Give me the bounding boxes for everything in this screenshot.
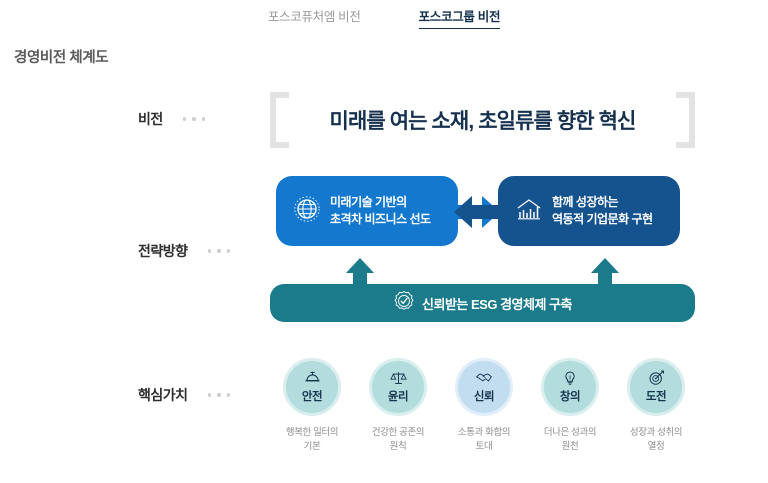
handshake-icon: [475, 370, 493, 391]
strategy-line-1: 함께 성장하는: [552, 195, 618, 209]
core-value-circle: 신뢰: [455, 358, 513, 416]
bracket-right-icon: [676, 92, 695, 148]
core-value-label: 신뢰: [474, 392, 494, 404]
core-value-challenge[interactable]: 도전 성장과 성취의 열정: [616, 358, 696, 468]
dots-decoration: [183, 117, 206, 121]
dots-decoration: [208, 249, 231, 253]
vision-statement-block: 미래를 여는 소재, 초일류를 향한 혁신: [270, 96, 695, 144]
scales-icon: [390, 370, 407, 391]
strategy-box-culture-label: 함께 성장하는 역동적 기업문화 구현: [552, 194, 653, 229]
target-dart-icon: [648, 370, 665, 391]
caption-line-1: 성장과 성취의: [630, 427, 682, 438]
caption-line-1: 소통과 화합의: [458, 427, 510, 438]
vision-tabbar: 포스코퓨처엠 비전 포스코그룹 비전: [0, 0, 768, 34]
core-value-safety[interactable]: 안전 행복한 일터의 기본: [272, 358, 352, 468]
row-label-core-values: 핵심가치: [138, 385, 230, 405]
core-value-label: 윤리: [388, 392, 408, 404]
core-value-circle: 안전: [283, 358, 341, 416]
globe-icon: [293, 195, 321, 228]
vision-statement-text: 미래를 여는 소재, 초일류를 향한 혁신: [289, 105, 676, 135]
strategy-direction-area: 미래기술 기반의 초격차 비즈니스 선도 함께 성장하는 역동적 기업문화 구현: [270, 176, 695, 322]
row-label-core-values-text: 핵심가치: [138, 385, 188, 405]
core-value-trust[interactable]: 신뢰 소통과 화합의 토대: [444, 358, 524, 468]
core-values-area: 안전 행복한 일터의 기본 윤리 건강한 공존의 원칙: [272, 358, 696, 468]
core-value-caption: 건강한 공존의 원칙: [372, 426, 424, 454]
core-value-ethics[interactable]: 윤리 건강한 공존의 원칙: [358, 358, 438, 468]
caption-line-2: 원칙: [390, 441, 407, 452]
caption-line-2: 토대: [476, 441, 493, 452]
caption-line-2: 열정: [648, 441, 665, 452]
strategy-line-2: 초격차 비즈니스 선도: [330, 212, 431, 226]
core-value-label: 도전: [646, 392, 666, 404]
core-value-creativity[interactable]: 창의 더나은 성과의 원천: [530, 358, 610, 468]
growth-building-icon: [515, 195, 543, 228]
page-title: 경영비전 체계도: [14, 46, 108, 67]
lightbulb-icon: [562, 370, 578, 391]
strategy-box-technology-label: 미래기술 기반의 초격차 비즈니스 선도: [330, 194, 431, 229]
core-value-circle: 창의: [541, 358, 599, 416]
core-value-circle: 윤리: [369, 358, 427, 416]
row-label-strategy: 전략방향: [138, 241, 230, 261]
core-value-circle: 도전: [627, 358, 685, 416]
caption-line-1: 행복한 일터의: [286, 427, 338, 438]
safety-helmet-icon: [304, 370, 321, 391]
bracket-left-icon: [270, 92, 289, 148]
caption-line-2: 원천: [562, 441, 579, 452]
core-value-caption: 소통과 화합의 토대: [458, 426, 510, 454]
dots-decoration: [208, 393, 231, 397]
core-value-label: 창의: [560, 392, 580, 404]
core-value-label: 안전: [302, 392, 322, 404]
row-label-vision-text: 비전: [138, 109, 163, 129]
caption-line-2: 기본: [304, 441, 321, 452]
tab-posco-group-vision[interactable]: 포스코그룹 비전: [419, 6, 501, 29]
esg-foundation-label: 신뢰받는 ESG 경영체제 구축: [422, 294, 572, 313]
strategy-box-technology[interactable]: 미래기술 기반의 초격차 비즈니스 선도: [276, 176, 458, 246]
strategy-box-culture[interactable]: 함께 성장하는 역동적 기업문화 구현: [498, 176, 680, 246]
strategy-line-1: 미래기술 기반의: [330, 195, 407, 209]
row-label-strategy-text: 전략방향: [138, 241, 188, 261]
tab-posco-future-m-vision[interactable]: 포스코퓨처엠 비전: [268, 6, 361, 28]
strategy-line-2: 역동적 기업문화 구현: [552, 212, 653, 226]
seal-check-icon: [393, 290, 415, 317]
core-value-caption: 행복한 일터의 기본: [286, 426, 338, 454]
core-value-caption: 성장과 성취의 열정: [630, 426, 682, 454]
caption-line-1: 건강한 공존의: [372, 427, 424, 438]
core-value-caption: 더나은 성과의 원천: [544, 426, 596, 454]
row-label-vision: 비전: [138, 109, 205, 129]
caption-line-1: 더나은 성과의: [544, 427, 596, 438]
esg-foundation-bar[interactable]: 신뢰받는 ESG 경영체제 구축: [270, 284, 695, 322]
